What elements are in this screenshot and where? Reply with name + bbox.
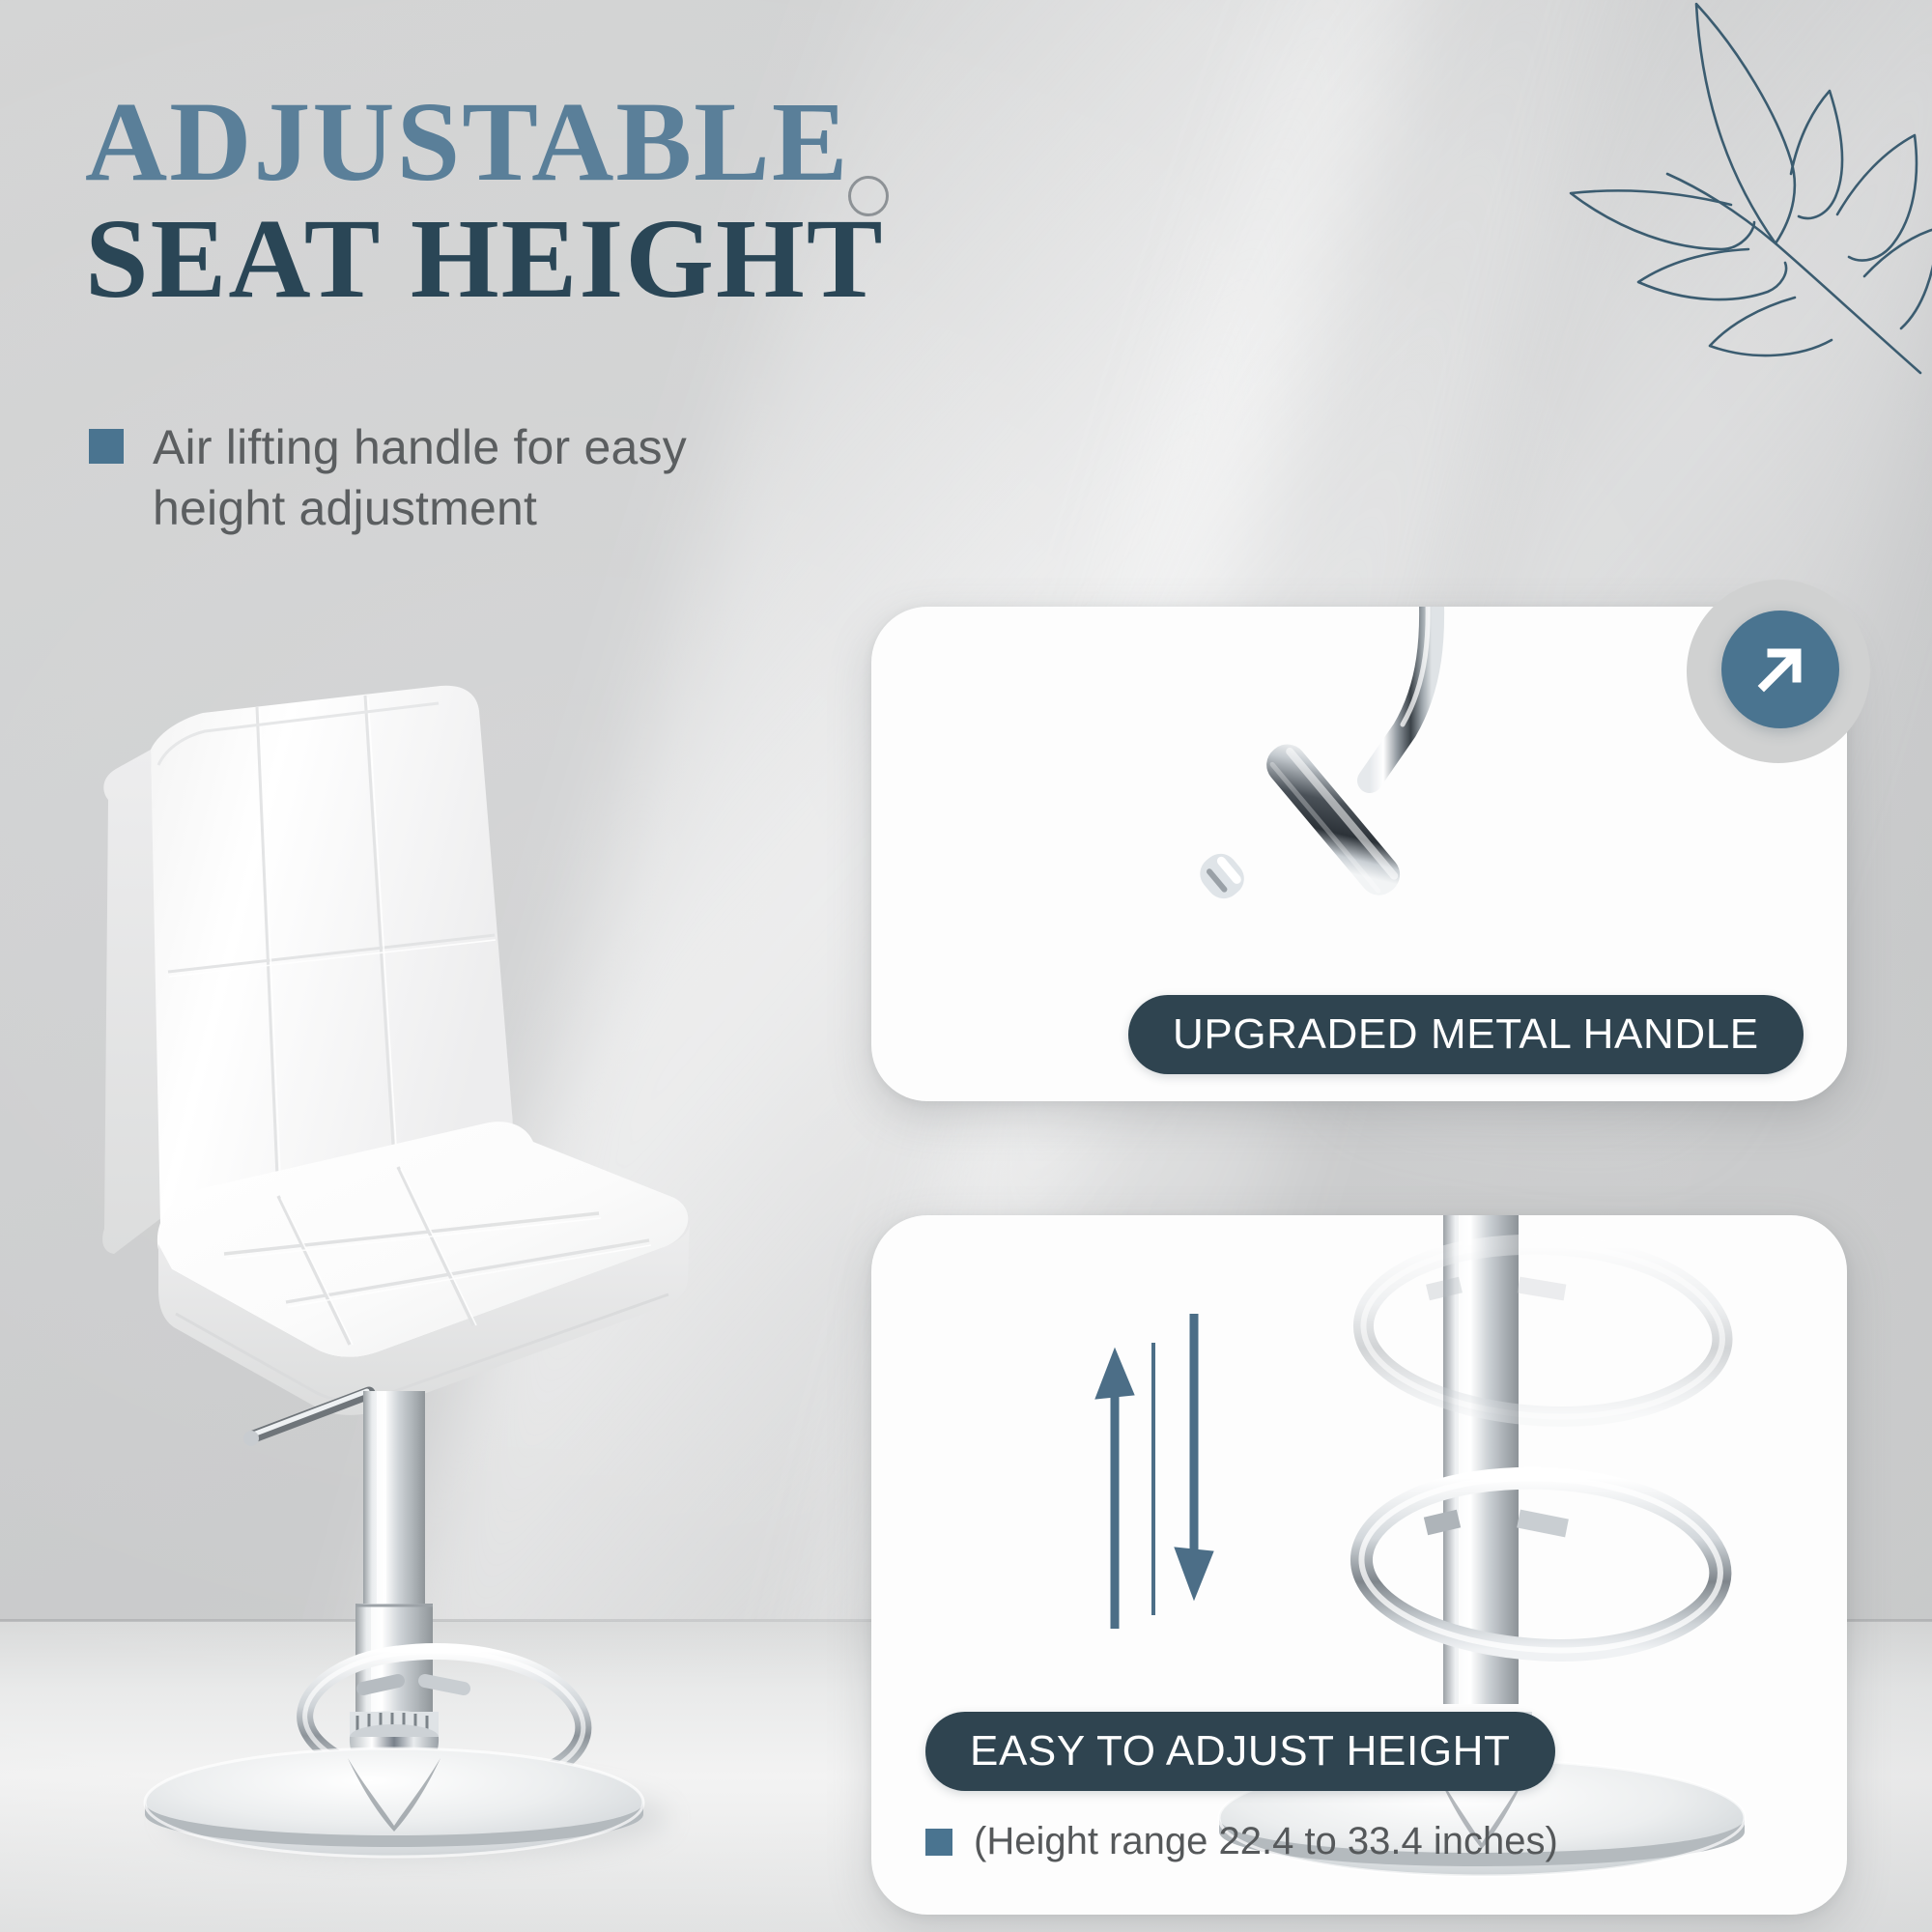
circle-decoration-icon [848, 176, 889, 216]
feature-bullet-label: Air lifting handle for easy height adjus… [153, 417, 823, 539]
footrest-ring-lower [1361, 1478, 1719, 1650]
headline-line-2: SEAT HEIGHT [85, 200, 1051, 319]
arrow-up-right-icon [1748, 638, 1812, 701]
square-bullet-icon [89, 429, 124, 464]
card-label-upgraded-metal-handle: UPGRADED METAL HANDLE [1128, 995, 1804, 1074]
feature-bullet: Air lifting handle for easy height adjus… [89, 417, 823, 539]
height-range-label: (Height range 22.4 to 33.4 inches) [974, 1820, 1558, 1863]
height-range-caption: (Height range 22.4 to 33.4 inches) [925, 1820, 1558, 1863]
leaf-branch-icon [1532, 0, 1932, 377]
card-label-easy-to-adjust-height: EASY TO ADJUST HEIGHT [925, 1712, 1555, 1791]
footrest-ring-upper-ghost [1363, 1244, 1721, 1416]
arrow-up-right-badge[interactable] [1721, 611, 1839, 728]
bar-stool-product-image [58, 676, 869, 1893]
square-bullet-icon [925, 1829, 952, 1856]
page-title: ADJUSTABLE SEAT HEIGHT [85, 83, 1051, 318]
headline-line-1: ADJUSTABLE [85, 83, 1051, 202]
metal-handle-photo [1140, 607, 1604, 985]
feature-card-easy-to-adjust-height: EASY TO ADJUST HEIGHT (Height range 22.4… [871, 1215, 1847, 1915]
stool-base [145, 1711, 643, 1857]
footrest-adjust-photo [1138, 1215, 1847, 1897]
